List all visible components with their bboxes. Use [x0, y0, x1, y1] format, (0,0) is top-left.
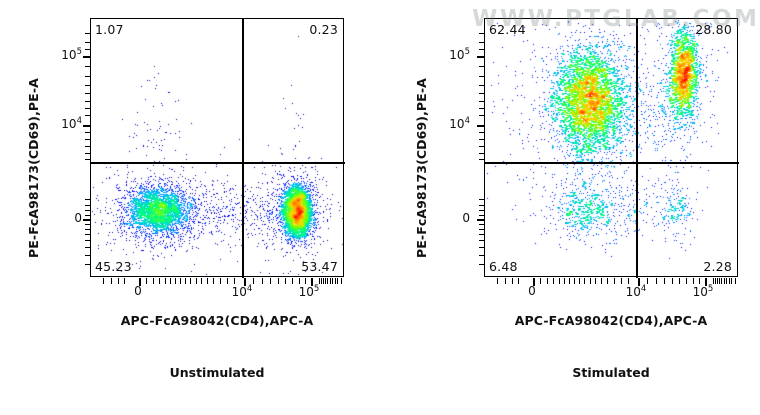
y-tick-minor	[479, 42, 485, 43]
x-tick-minor	[569, 278, 570, 284]
x-tick-minor	[731, 278, 732, 284]
x-axis-label-left: APC-FcA98042(CD4),APC-A	[90, 313, 344, 328]
x-tick-minor	[185, 278, 186, 284]
y-tick-minor	[479, 108, 485, 109]
x-tick-minor	[337, 278, 338, 284]
y-tick-minor	[479, 199, 485, 200]
panel-caption-stimulated: Stimulated	[484, 365, 738, 380]
y-tick-minor	[85, 229, 91, 230]
y-axis-label-right: PE-FcA98173(CD69),PE-A	[414, 78, 429, 258]
y-tick-minor	[85, 76, 91, 77]
x-tick-minor	[330, 278, 331, 284]
y-tick-minor	[479, 240, 485, 241]
y-tick-minor	[85, 215, 91, 216]
x-tick-minor	[735, 278, 736, 284]
y-tick-1e4-right: 104	[428, 116, 470, 131]
y-tick-0-right: 0	[428, 211, 470, 225]
quadrant-line-vertical-left	[242, 19, 244, 278]
x-tick-minor	[656, 278, 657, 284]
y-tick-minor	[85, 234, 91, 235]
x-tick-minor	[201, 278, 202, 284]
y-tick-minor	[479, 205, 485, 206]
y-tick-minor	[479, 115, 485, 116]
quadrant-value-upper-right-l: 0.23	[309, 22, 338, 37]
x-tick-minor	[111, 278, 112, 284]
x-tick-minor	[564, 278, 565, 284]
y-tick-minor	[479, 210, 485, 211]
x-tick-minor	[190, 278, 191, 284]
watermark-ptglab: WWW.PTGLAB.COM	[472, 6, 759, 32]
y-tick-minor	[85, 49, 91, 50]
y-tick-minor	[479, 264, 485, 265]
y-tick-minor	[85, 255, 91, 256]
y-tick-minor	[479, 146, 485, 147]
x-tick-0-left: 0	[118, 284, 158, 298]
y-tick-0-left: 0	[40, 211, 82, 225]
y-tick-minor	[479, 93, 485, 94]
y-axis-label-left: PE-FcA98173(CD69),PE-A	[26, 78, 41, 258]
y-tick-minor	[479, 153, 485, 154]
scatter-canvas-left	[91, 19, 345, 278]
y-tick-minor	[85, 264, 91, 265]
plot-frame-right: 62.44 28.80 6.48 2.28	[484, 18, 738, 277]
x-tick-minor	[335, 278, 336, 284]
y-tick-1e5-left: 105	[40, 47, 82, 62]
quadrant-value-lower-right-l: 53.47	[301, 259, 338, 274]
y-tick-minor	[479, 224, 485, 225]
y-tick-major	[83, 56, 91, 58]
x-tick-minor	[175, 278, 176, 284]
x-tick-minor	[726, 278, 727, 284]
y-tick-minor	[479, 255, 485, 256]
y-tick-minor	[85, 101, 91, 102]
x-tick-minor	[207, 278, 208, 284]
x-tick-minor	[729, 278, 730, 284]
y-tick-minor	[479, 49, 485, 50]
x-tick-minor	[590, 278, 591, 284]
plot-panel-stimulated: PE-FcA98173(CD69),PE-A 105 104 0 62.44 2…	[380, 0, 760, 415]
x-tick-minor	[213, 278, 214, 284]
x-tick-minor	[220, 278, 221, 284]
y-tick-major	[83, 125, 91, 127]
y-tick-minor	[479, 76, 485, 77]
x-tick-minor	[574, 278, 575, 284]
y-tick-minor	[85, 93, 91, 94]
x-tick-minor	[553, 278, 554, 284]
y-tick-minor	[479, 66, 485, 67]
y-tick-minor	[85, 153, 91, 154]
y-tick-minor	[85, 85, 91, 86]
x-tick-minor	[584, 278, 585, 284]
x-tick-minor	[614, 278, 615, 284]
x-tick-minor	[196, 278, 197, 284]
y-tick-major	[477, 219, 485, 221]
quadrant-line-horizontal-right	[485, 162, 739, 164]
y-tick-minor	[85, 115, 91, 116]
x-tick-minor	[595, 278, 596, 284]
plot-frame-left: 1.07 0.23 45.23 53.47	[90, 18, 344, 277]
y-tick-minor	[479, 33, 485, 34]
x-tick-minor	[165, 278, 166, 284]
y-tick-minor	[85, 108, 91, 109]
y-tick-minor	[85, 247, 91, 248]
y-tick-minor	[85, 146, 91, 147]
y-tick-minor	[85, 210, 91, 211]
x-tick-minor	[607, 278, 608, 284]
x-tick-minor	[724, 278, 725, 284]
y-tick-minor	[479, 159, 485, 160]
y-tick-minor	[85, 66, 91, 67]
x-tick-minor	[278, 278, 279, 284]
x-tick-1e5-left: 105	[289, 284, 329, 299]
y-tick-1e4-left: 104	[40, 116, 82, 131]
quadrant-value-upper-left-l: 1.07	[95, 22, 124, 37]
y-tick-major	[83, 219, 91, 221]
x-tick-minor	[103, 278, 104, 284]
x-tick-minor	[159, 278, 160, 284]
x-tick-minor	[664, 278, 665, 284]
y-tick-minor	[85, 33, 91, 34]
x-tick-minor	[270, 278, 271, 284]
quadrant-value-lower-left-r: 6.48	[489, 259, 518, 274]
y-tick-minor	[85, 159, 91, 160]
x-tick-minor	[505, 278, 506, 284]
y-tick-minor	[479, 139, 485, 140]
y-tick-minor	[85, 139, 91, 140]
x-tick-minor	[332, 278, 333, 284]
x-tick-1e4-left: 104	[222, 284, 262, 299]
x-tick-minor	[180, 278, 181, 284]
y-tick-major	[477, 56, 485, 58]
scatter-canvas-right	[485, 19, 739, 278]
x-tick-1e5-right: 105	[683, 284, 723, 299]
y-tick-minor	[479, 215, 485, 216]
quadrant-line-horizontal-left	[91, 162, 345, 164]
panel-caption-unstimulated: Unstimulated	[90, 365, 344, 380]
x-tick-minor	[170, 278, 171, 284]
y-tick-1e5-right: 105	[428, 47, 470, 62]
x-tick-minor	[262, 278, 263, 284]
x-tick-minor	[601, 278, 602, 284]
y-tick-minor	[85, 240, 91, 241]
x-tick-minor	[341, 278, 342, 284]
quadrant-value-lower-right-r: 2.28	[703, 259, 732, 274]
y-tick-major	[477, 125, 485, 127]
plot-panel-unstimulated: PE-FcA98173(CD69),PE-A 105 104 0 1.07 0.…	[0, 0, 380, 415]
y-tick-minor	[479, 132, 485, 133]
y-tick-minor	[85, 205, 91, 206]
x-axis-label-right: APC-FcA98042(CD4),APC-A	[484, 313, 738, 328]
x-tick-minor	[679, 278, 680, 284]
y-tick-minor	[85, 42, 91, 43]
x-tick-minor	[559, 278, 560, 284]
y-tick-minor	[85, 199, 91, 200]
x-tick-1e4-right: 104	[616, 284, 656, 299]
x-tick-0-right: 0	[512, 284, 552, 298]
y-tick-minor	[479, 101, 485, 102]
x-tick-minor	[579, 278, 580, 284]
quadrant-value-lower-left-l: 45.23	[95, 259, 132, 274]
x-tick-minor	[672, 278, 673, 284]
y-tick-minor	[479, 85, 485, 86]
y-tick-minor	[479, 234, 485, 235]
y-tick-minor	[479, 247, 485, 248]
y-tick-minor	[85, 132, 91, 133]
y-tick-minor	[85, 224, 91, 225]
x-tick-minor	[497, 278, 498, 284]
x-tick-minor	[285, 278, 286, 284]
quadrant-line-vertical-right	[636, 19, 638, 278]
y-tick-minor	[479, 229, 485, 230]
